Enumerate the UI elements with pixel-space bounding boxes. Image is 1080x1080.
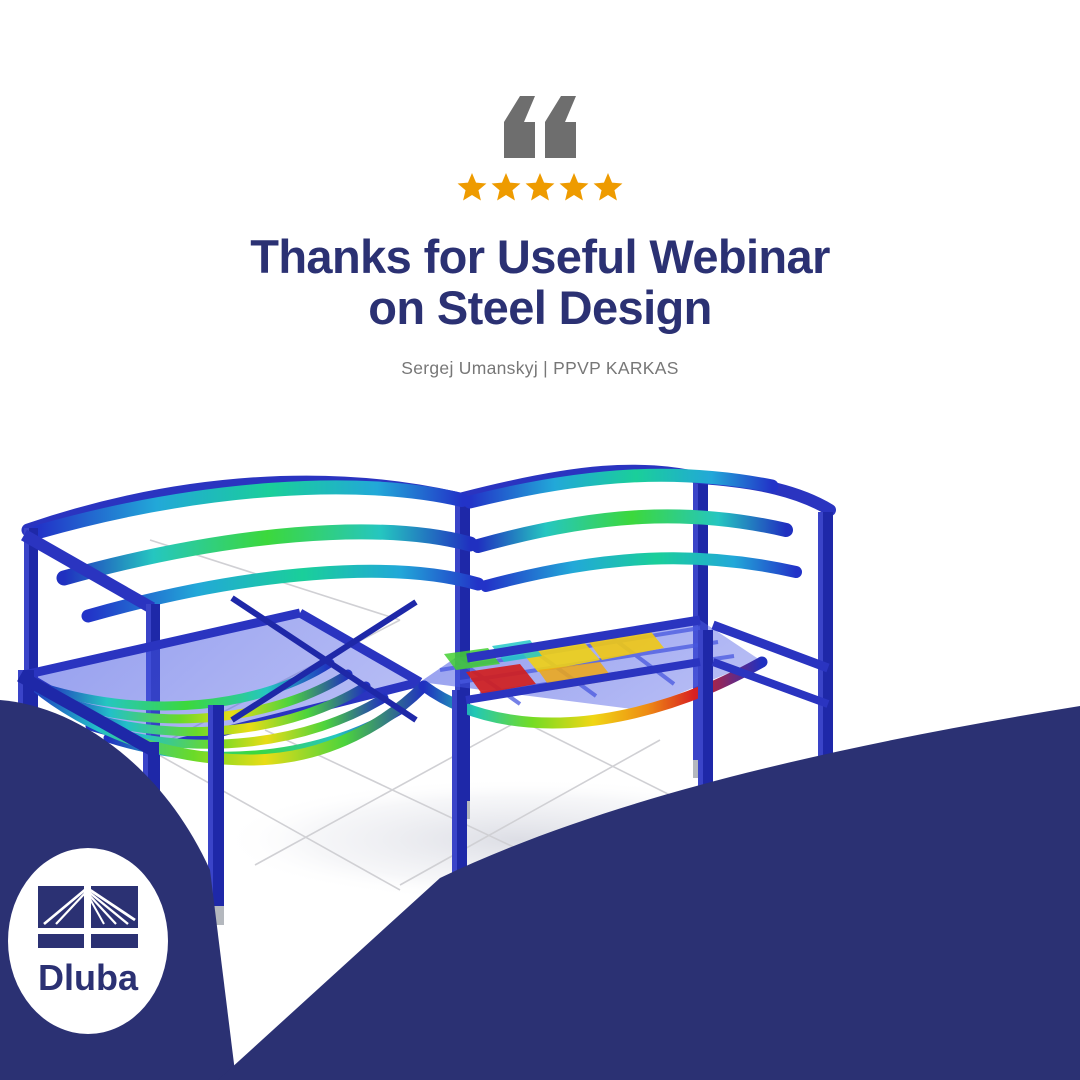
star-icon (559, 172, 589, 202)
cable-stayed-bridge-icon: Dlubal (36, 886, 140, 996)
testimonial-headline: Thanks for Useful Webinar on Steel Desig… (0, 232, 1080, 334)
logo-wordmark: Dlubal (38, 957, 140, 996)
middle-near-column (208, 705, 224, 925)
headline-line-2: on Steel Design (0, 283, 1080, 334)
dlubal-logo-badge[interactable]: Dlubal (8, 848, 168, 1034)
star-icon (491, 172, 521, 202)
star-icon (593, 172, 623, 202)
testimonial-attribution: Sergej Umanskyj | PPVP KARKAS (0, 358, 1080, 379)
testimonial-block: Thanks for Useful Webinar on Steel Desig… (0, 0, 1080, 379)
star-icon (457, 172, 487, 202)
quotation-mark-icon (0, 96, 1080, 158)
star-rating (0, 172, 1080, 206)
testimonial-card: Thanks for Useful Webinar on Steel Desig… (0, 0, 1080, 1080)
headline-line-1: Thanks for Useful Webinar (0, 232, 1080, 283)
star-icon (525, 172, 555, 202)
